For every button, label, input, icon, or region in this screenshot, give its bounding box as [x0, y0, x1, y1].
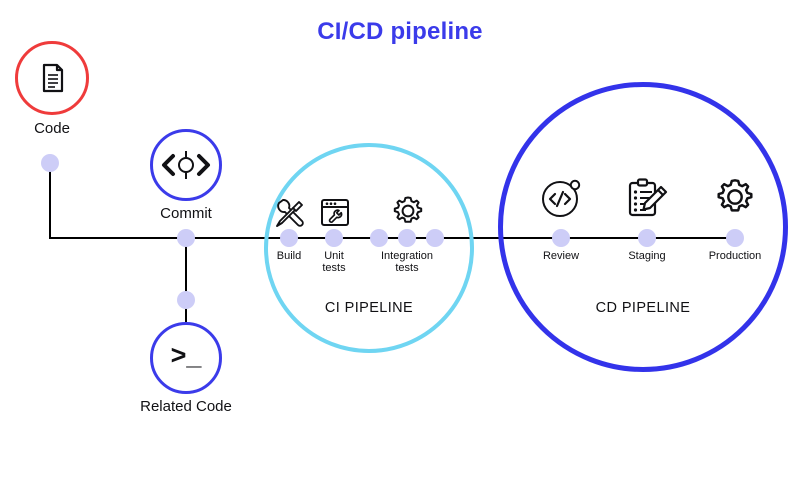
integration-tests-label-line1: Integration — [367, 250, 447, 262]
code-node-label: Code — [2, 120, 102, 137]
integration-tests-stage-dot[interactable] — [398, 229, 416, 247]
commit-connector-dot — [177, 229, 195, 247]
unit-tests-stage-label: Unit tests — [304, 250, 364, 274]
window-wrench-icon — [318, 196, 352, 230]
related-code-node-label: Related Code — [116, 398, 256, 415]
integration-tests-dot-left[interactable] — [370, 229, 388, 247]
ci-pipeline-circle — [264, 143, 474, 353]
git-commit-icon — [156, 135, 216, 195]
review-stage-label: Review — [526, 250, 596, 262]
cd-pipeline-label: CD PIPELINE — [498, 300, 788, 316]
gear-icon — [714, 176, 756, 218]
code-review-icon — [538, 174, 586, 222]
integration-tests-label-line2: tests — [367, 262, 447, 274]
commit-node-label: Commit — [136, 205, 236, 222]
integration-tests-dot-right[interactable] — [426, 229, 444, 247]
terminal-prompt-icon: >_ — [150, 340, 222, 371]
integration-tests-stage-label: Integration tests — [367, 250, 447, 274]
connector-code-vertical — [49, 163, 51, 239]
unit-tests-label-line1: Unit — [304, 250, 364, 262]
gear-icon — [390, 193, 426, 229]
review-stage-dot[interactable] — [552, 229, 570, 247]
document-icon — [32, 58, 72, 98]
cd-pipeline-circle — [498, 82, 788, 372]
staging-stage-dot[interactable] — [638, 229, 656, 247]
code-connector-dot — [41, 154, 59, 172]
unit-tests-label-line2: tests — [304, 262, 364, 274]
production-stage-label: Production — [700, 250, 770, 262]
production-stage-dot[interactable] — [726, 229, 744, 247]
ci-pipeline-label: CI PIPELINE — [264, 300, 474, 316]
related-code-connector-dot — [177, 291, 195, 309]
staging-stage-label: Staging — [612, 250, 682, 262]
build-stage-dot[interactable] — [280, 229, 298, 247]
clipboard-pencil-icon — [624, 176, 670, 222]
page-title: CI/CD pipeline — [0, 18, 800, 46]
unit-tests-stage-dot[interactable] — [325, 229, 343, 247]
